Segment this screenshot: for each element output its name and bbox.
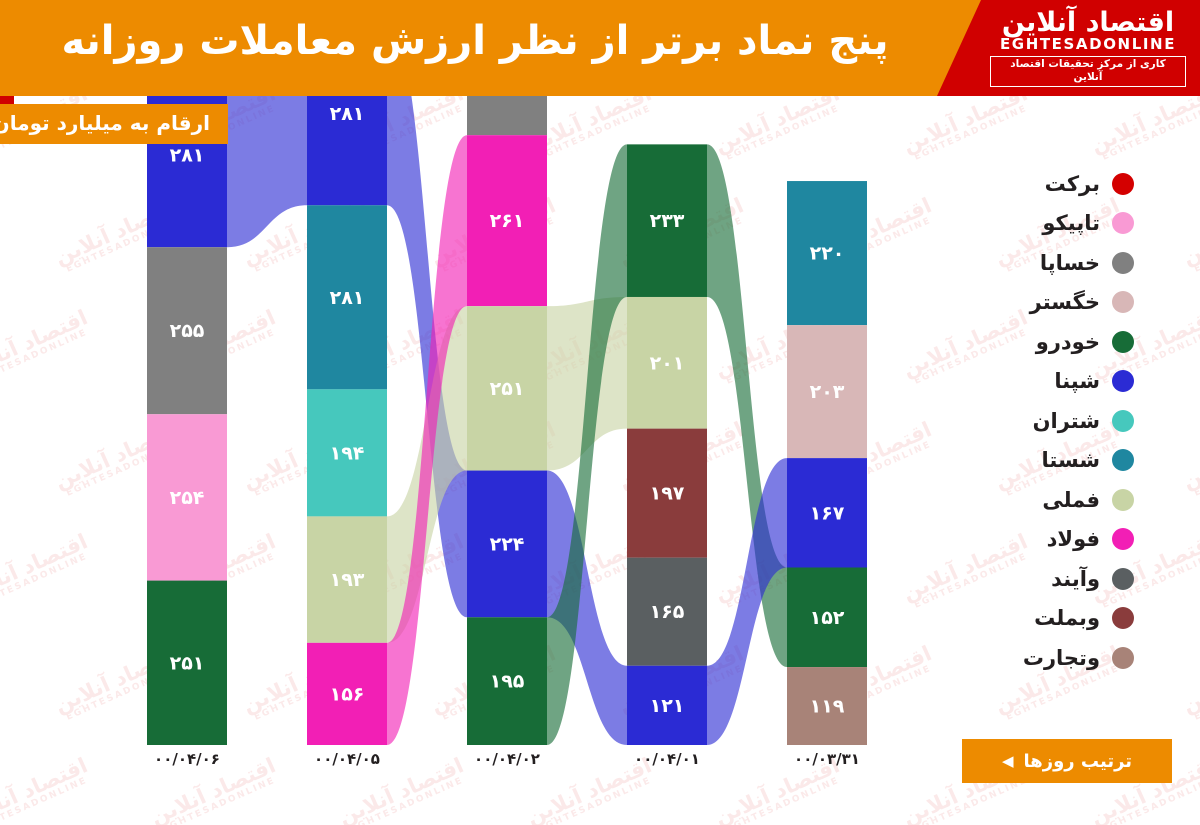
legend-item[interactable]: خودرو: [960, 322, 1150, 362]
watermark-text: اقتصاد آنلاینEGHTESADONLINE: [1179, 642, 1200, 725]
legend-item-label: شپنا: [1054, 369, 1100, 393]
x-axis-tick-label: ۰۰/۰۴/۰۶: [154, 750, 220, 768]
legend-item[interactable]: فملی: [960, 480, 1150, 520]
legend-swatch-icon: [1112, 568, 1134, 590]
bar-segment-value: ۱۹۷: [650, 483, 685, 505]
bar-segment-value: ۲۸۱: [330, 103, 365, 125]
flow-ribbon: [227, 96, 307, 247]
legend-swatch-icon: [1112, 370, 1134, 392]
legend: برکتتاپیکوخساپاخگسترخودروشپناشترانشستافم…: [960, 164, 1150, 678]
x-axis-tick-label: ۰۰/۰۴/۰۱: [634, 750, 700, 768]
bar-segment-value: ۱۹۴: [330, 442, 365, 464]
x-axis: ۰۰/۰۴/۰۶۰۰/۰۴/۰۵۰۰/۰۴/۰۲۰۰/۰۴/۰۱۰۰/۰۳/۳۱: [154, 750, 860, 768]
legend-swatch-icon: [1112, 173, 1134, 195]
legend-swatch-icon: [1112, 489, 1134, 511]
logo-subtitle: کاری از مرکز تحقیقات اقتصاد آنلاین: [990, 56, 1186, 87]
legend-item[interactable]: برکت: [960, 164, 1150, 204]
legend-swatch-icon: [1112, 212, 1134, 234]
legend-item-label: فملی: [1042, 488, 1100, 512]
legend-swatch-icon: [1112, 252, 1134, 274]
header-bar: پنج نماد برتر از نظر ارزش معاملات روزانه…: [0, 0, 1200, 96]
legend-item-label: وتجارت: [1023, 646, 1100, 670]
bar-segment[interactable]: [467, 96, 547, 135]
brand-logo: اقتصاد آنلاین EGHTESADONLINE کاری از مرک…: [937, 0, 1200, 96]
logo-title-fa: اقتصاد آنلاین: [990, 8, 1186, 38]
legend-item-label: فولاد: [1047, 527, 1100, 551]
legend-item[interactable]: وبملت: [960, 599, 1150, 639]
logo-slant-decoration: [937, 0, 981, 96]
legend-item[interactable]: شستا: [960, 441, 1150, 481]
unit-badge: ارقام به میلیارد تومان: [0, 104, 228, 144]
logo-title-en: EGHTESADONLINE: [990, 36, 1186, 53]
legend-item-label: تاپیکو: [1042, 211, 1100, 235]
bar-segment-value: ۱۵۶: [330, 683, 365, 705]
legend-swatch-icon: [1112, 528, 1134, 550]
legend-swatch-icon: [1112, 410, 1134, 432]
arrow-left-icon: ◀: [1002, 754, 1014, 769]
legend-item[interactable]: خگستر: [960, 283, 1150, 323]
bar-segment-value: ۲۵۱: [170, 652, 205, 674]
chart-canvas: ۷۵۴۲۸۱۲۵۵۲۵۴۲۵۱۲۸۱۲۸۱۱۹۴۱۹۳۱۵۶۲۷۴۲۶۱۲۵۱۲…: [0, 96, 960, 796]
alluvial-chart: ۷۵۴۲۸۱۲۵۵۲۵۴۲۵۱۲۸۱۲۸۱۱۹۴۱۹۳۱۵۶۲۷۴۲۶۱۲۵۱۲…: [0, 96, 960, 796]
legend-item-label: وبملت: [1034, 606, 1100, 630]
watermark-text: اقتصاد آنلاینEGHTESADONLINE: [1179, 194, 1200, 277]
legend-item-label: خگستر: [1030, 290, 1100, 314]
legend-item-label: شستا: [1042, 448, 1100, 472]
bar-segment-value: ۲۲۰: [810, 243, 845, 265]
order-days-button[interactable]: ترتیب روزها ◀: [962, 739, 1172, 783]
bar-segment-value: ۱۹۳: [330, 569, 365, 591]
legend-swatch-icon: [1112, 647, 1134, 669]
bar-segment-value: ۲۸۱: [170, 145, 205, 167]
legend-item-label: شتران: [1033, 409, 1100, 433]
bar-segment-value: ۱۶۷: [810, 502, 845, 524]
legend-item-label: خودرو: [1036, 330, 1100, 354]
order-days-label: ترتیب روزها: [1024, 751, 1133, 772]
bar-segment-value: ۱۱۹: [810, 696, 845, 718]
bar-segment-value: ۲۵۴: [170, 487, 205, 509]
logo-content: اقتصاد آنلاین EGHTESADONLINE کاری از مرک…: [990, 8, 1186, 87]
bar-segment-value: ۲۰۳: [810, 381, 845, 403]
legend-swatch-icon: [1112, 331, 1134, 353]
bar-segment-value: ۱۶۵: [650, 601, 685, 623]
infographic-root: اقتصاد آنلاینEGHTESADONLINEاقتصاد آنلاین…: [0, 0, 1200, 825]
legend-swatch-icon: [1112, 607, 1134, 629]
legend-item[interactable]: شتران: [960, 401, 1150, 441]
page-title: پنج نماد برتر از نظر ارزش معاملات روزانه: [35, 10, 915, 72]
legend-item[interactable]: تاپیکو: [960, 204, 1150, 244]
bar-segment-value: ۱۵۲: [810, 607, 845, 629]
x-axis-tick-label: ۰۰/۰۴/۰۲: [474, 750, 540, 768]
legend-swatch-icon: [1112, 449, 1134, 471]
bar-segment-value: ۱۲۱: [650, 695, 685, 717]
bar-segment-value: ۱۹۵: [490, 671, 525, 693]
legend-swatch-icon: [1112, 291, 1134, 313]
legend-item-label: برکت: [1045, 172, 1100, 196]
legend-item-label: وآیند: [1051, 567, 1100, 591]
bar-segment-value: ۲۶۱: [490, 210, 525, 232]
legend-item[interactable]: خساپا: [960, 243, 1150, 283]
bar-segment-value: ۲۰۱: [650, 352, 685, 374]
bar-segment-value: ۲۸۱: [330, 287, 365, 309]
bar-segment-value: ۲۵۱: [490, 378, 525, 400]
legend-item[interactable]: وتجارت: [960, 638, 1150, 678]
legend-item-label: خساپا: [1040, 251, 1100, 275]
bar-segment-value: ۲۵۵: [170, 320, 205, 342]
legend-item[interactable]: فولاد: [960, 520, 1150, 560]
watermark-text: اقتصاد آنلاینEGHTESADONLINE: [1179, 418, 1200, 501]
x-axis-tick-label: ۰۰/۰۳/۳۱: [794, 750, 860, 768]
x-axis-tick-label: ۰۰/۰۴/۰۵: [314, 750, 380, 768]
legend-item[interactable]: وآیند: [960, 559, 1150, 599]
bar-segment-value: ۲۳۳: [650, 210, 685, 232]
bar-segment-value: ۲۲۴: [490, 533, 525, 555]
legend-item[interactable]: شپنا: [960, 362, 1150, 402]
